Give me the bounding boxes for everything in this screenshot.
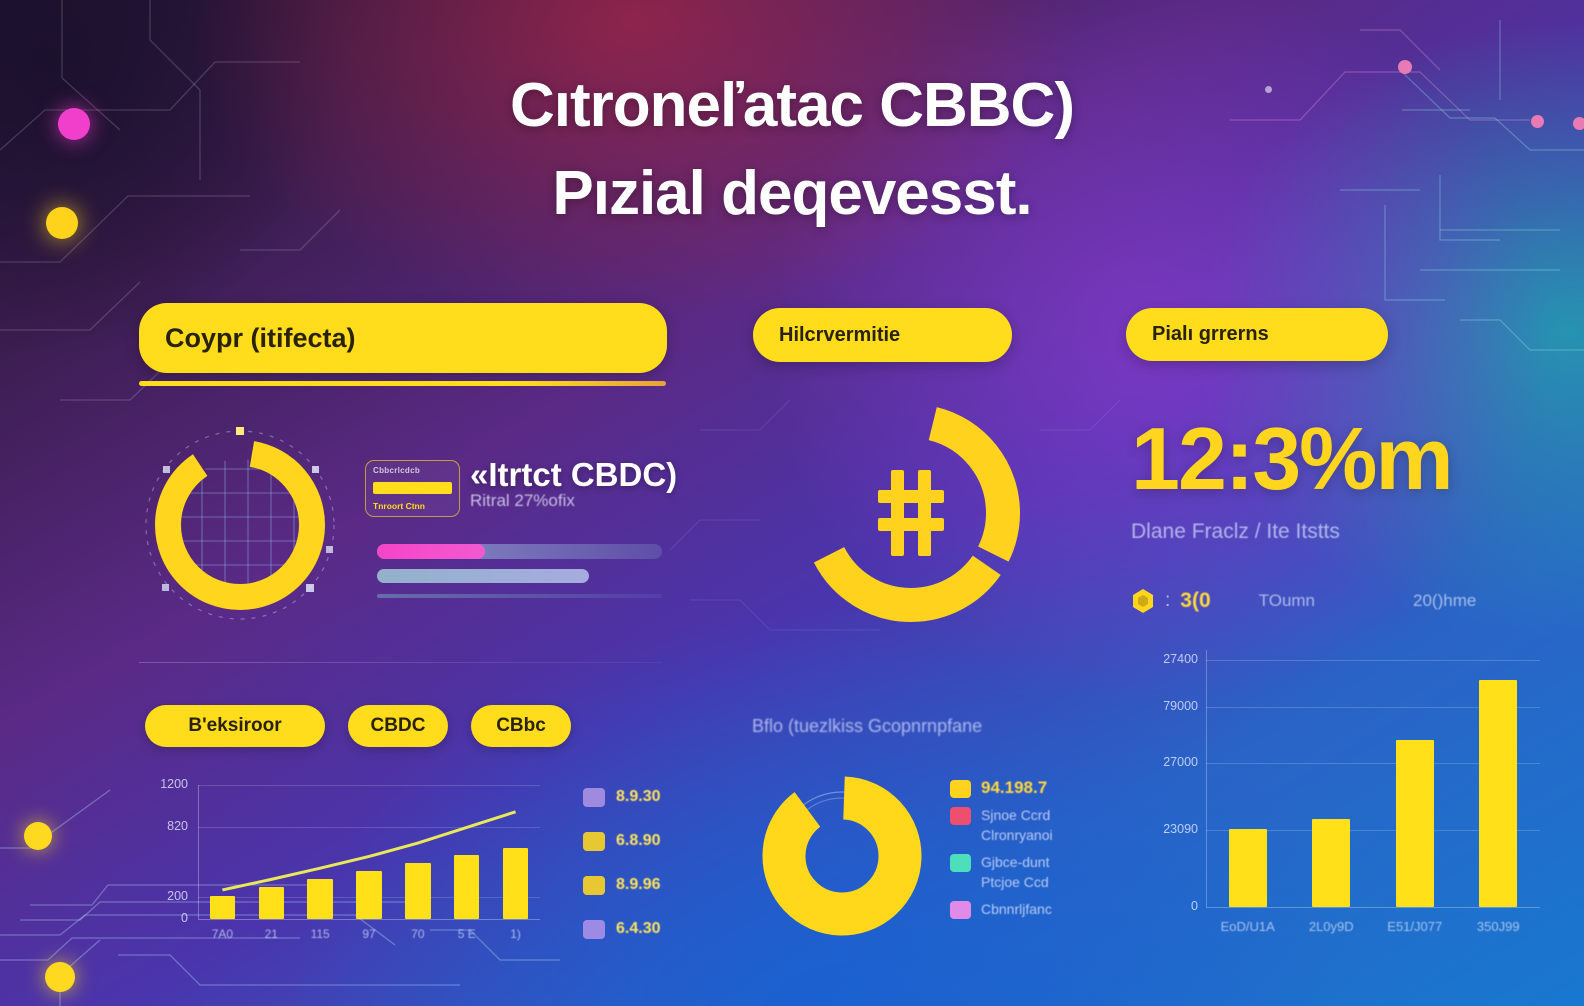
x-axis-tick-label: EoD/U1A: [1216, 919, 1280, 934]
grid-line: [1206, 660, 1540, 661]
legend-item[interactable]: Gjbce-dunt Ptcjoe Ccd: [950, 852, 1110, 892]
metric-label-1: TOumn: [1259, 591, 1315, 611]
y-axis-tick-label: 27400: [1144, 652, 1198, 666]
pill-main-underline: [139, 381, 666, 386]
left-combo-chart: 020082012007A02111597705 E1): [150, 785, 540, 945]
mid-chart-legend: 94.198.7 Sjnoe Ccrd Clronryanoi Gjbce-du…: [950, 778, 1110, 926]
progress-bar-1-fill: [377, 544, 485, 559]
badge-bottom-text: Tnroort Ctnn: [373, 501, 452, 511]
x-axis-line: [1206, 907, 1540, 908]
legend-label: 6.4.30: [616, 920, 660, 938]
legend-sublabel: Clronryanoi: [981, 827, 1053, 843]
legend-swatch: [583, 920, 605, 939]
legend-swatch: [950, 807, 971, 825]
legend-item[interactable]: 6.8.90: [583, 819, 693, 863]
legend-label: 94.198.7: [981, 778, 1047, 798]
trend-line: [150, 785, 540, 945]
page-title: Cıtroneľatac CBBC) Pızial deqevesst.: [0, 62, 1584, 238]
legend-swatch: [583, 788, 605, 807]
legend-label: 8.9.96: [616, 876, 660, 894]
hash-glyph: [878, 470, 944, 556]
legend-label: Gjbce-dunt: [981, 854, 1049, 870]
y-axis-tick-label: 0: [1144, 899, 1198, 913]
legend-item[interactable]: 8.9.96: [583, 863, 693, 907]
legend-label-group: Sjnoe Ccrd Clronryanoi: [981, 805, 1053, 845]
tab-option-1[interactable]: CBDC: [348, 705, 448, 747]
legend-swatch: [950, 901, 971, 919]
y-axis-tick-label: 23090: [1144, 822, 1198, 836]
left-kpi-heading: «Itrtct CBDC): [470, 456, 677, 494]
legend-label: Cbnnrljfanc: [981, 899, 1052, 919]
y-axis-line: [1206, 650, 1207, 907]
infographic-canvas: Cıtroneľatac CBBC) Pızial deqevesst. Coy…: [0, 0, 1584, 1006]
legend-item[interactable]: 6.4.30: [583, 907, 693, 951]
right-kpi-subtext: Dlane Fraclz / Ite Itstts: [1131, 520, 1340, 544]
x-axis-tick-label: E51/J077: [1383, 919, 1447, 934]
x-axis-tick-label: 2L0y9D: [1299, 919, 1363, 934]
legend-item[interactable]: 8.9.30: [583, 775, 693, 819]
chart-bar: [1479, 680, 1517, 907]
tab-option-0[interactable]: B'eksiroor: [145, 705, 325, 747]
legend-swatch: [950, 854, 971, 872]
right-kpi-value: 12:3%m: [1131, 408, 1452, 510]
left-chart-legend: 8.9.30 6.8.90 8.9.96 6.4.30: [583, 775, 693, 951]
pill-mid-category[interactable]: Hilcrvermitie: [753, 308, 1012, 362]
decor-dot-yellow-bottom-2: [45, 962, 75, 992]
legend-swatch: [950, 780, 971, 798]
decor-dot-yellow-bottom-1: [24, 822, 52, 850]
mini-badge-card: Cbbcrlcdcb Tnroort Ctnn: [365, 460, 460, 517]
right-bar-chart: 023090270007900027400EoD/U1A2L0y9DE51/J0…: [1150, 650, 1540, 945]
legend-label: Sjnoe Ccrd: [981, 807, 1050, 823]
legend-item[interactable]: 94.198.7: [950, 778, 1110, 798]
badge-yellow-bar: [373, 482, 452, 494]
pill-right-category[interactable]: Pialı grrerns: [1126, 308, 1388, 361]
legend-swatch: [583, 832, 605, 851]
pill-main-category[interactable]: Coypr (itifecta): [139, 303, 667, 373]
hash-ring-icon: [790, 392, 1032, 634]
x-axis-tick-label: 350J99: [1466, 919, 1530, 934]
chart-bar: [1312, 819, 1350, 907]
donut-ring-icon: [134, 424, 346, 626]
page-title-line-1: Cıtroneľatac CBBC): [0, 62, 1584, 150]
chart-bar: [1229, 829, 1267, 907]
legend-sublabel: Ptcjoe Ccd: [981, 874, 1049, 890]
y-axis-tick-label: 79000: [1144, 699, 1198, 713]
tab-option-2[interactable]: CBbc: [471, 705, 571, 747]
y-axis-tick-label: 27000: [1144, 755, 1198, 769]
progress-bar-3-track: [377, 594, 662, 598]
badge-top-text: Cbbcrlcdcb: [373, 466, 452, 475]
legend-label: 6.8.90: [616, 832, 660, 850]
page-title-line-2: Pızial deqevesst.: [0, 150, 1584, 238]
legend-item[interactable]: Sjnoe Ccrd Clronryanoi: [950, 805, 1110, 845]
chart-bar: [1396, 740, 1434, 907]
progress-bar-2-track: [377, 569, 589, 583]
right-metric-row: : 3(0 TOumn 20()hme: [1131, 588, 1531, 614]
hexagon-icon: [1131, 588, 1155, 614]
legend-label: 8.9.30: [616, 788, 660, 806]
left-panel-divider: [139, 662, 662, 663]
metric-colon: :: [1165, 590, 1170, 612]
legend-swatch: [583, 876, 605, 895]
metric-value: 3(0: [1180, 589, 1210, 613]
left-kpi-subtext: Ritral 27%ofix: [470, 491, 575, 511]
legend-label-group: Gjbce-dunt Ptcjoe Ccd: [981, 852, 1049, 892]
legend-item[interactable]: Cbnnrljfanc: [950, 899, 1110, 919]
mid-chart-title: Bflo (tuezlkiss Gcopnrnpfane: [752, 716, 982, 737]
metric-label-2: 20()hme: [1413, 591, 1476, 611]
mid-donut-chart: [752, 766, 932, 946]
